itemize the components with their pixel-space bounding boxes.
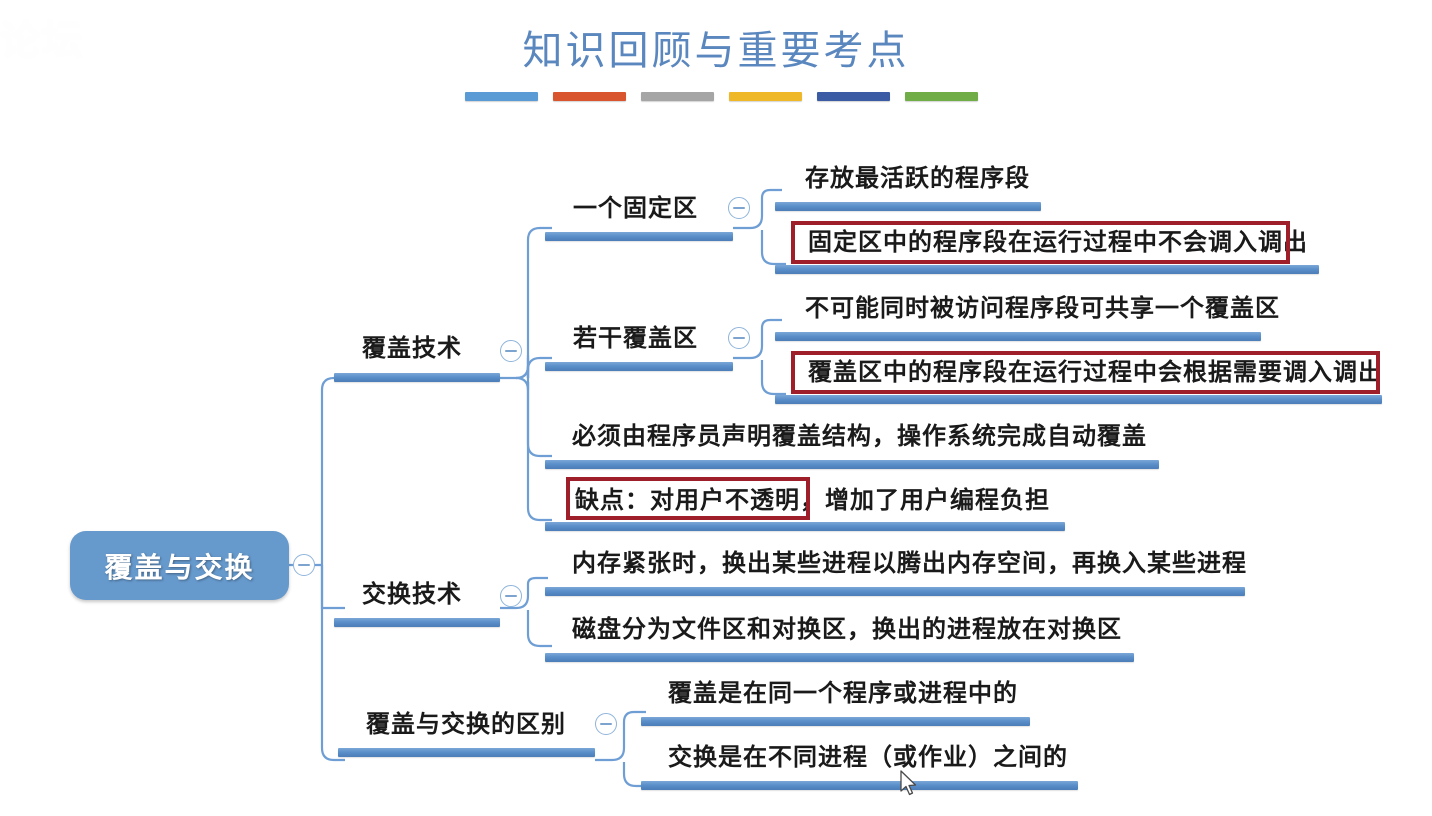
title-bar-navy [817, 92, 890, 101]
underline-swap-between-processes [641, 781, 1078, 790]
leaf-label-swap-out-in[interactable]: 内存紧张时，换出某些进程以腾出内存空间，再换入某些进程 [572, 551, 1247, 575]
leaf-label-programmer-declares[interactable]: 必须由程序员声明覆盖结构，操作系统完成自动覆盖 [572, 424, 1147, 448]
leaf-label-overlay-same-process[interactable]: 覆盖是在同一个程序或进程中的 [668, 681, 1018, 705]
minus-circle-icon-difference[interactable] [595, 713, 617, 735]
underline-difference [338, 748, 595, 757]
underline-swap-tech [334, 618, 500, 627]
underline-fixed-zone [545, 232, 733, 241]
title-color-bars [465, 92, 978, 101]
title-bar-green [905, 92, 978, 101]
slide-canvas: 论坛 bilibili 知识回顾与重要考点 [0, 0, 1432, 816]
minus-circle-icon-root[interactable] [293, 554, 315, 576]
title-bar-yellow [729, 92, 802, 101]
leaf-label-swap-between-processes[interactable]: 交换是在不同进程（或作业）之间的 [668, 745, 1068, 769]
underline-overlay-same-process [641, 717, 1030, 726]
node-label-swap-tech[interactable]: 交换技术 [362, 582, 462, 606]
underline-overlay-swap [775, 395, 1382, 404]
node-label-overlay-tech[interactable]: 覆盖技术 [362, 336, 462, 360]
underline-overlay-zone [545, 362, 733, 371]
leaf-label-active-segment[interactable]: 存放最活跃的程序段 [805, 166, 1030, 190]
leaf-label-share-zone[interactable]: 不可能同时被访问程序段可共享一个覆盖区 [805, 296, 1280, 320]
root-node[interactable]: 覆盖与交换 [70, 531, 289, 600]
node-label-fixed-zone[interactable]: 一个固定区 [573, 196, 698, 220]
minus-circle-icon-overlay-tech[interactable] [500, 340, 522, 362]
highlight-box-drawback [566, 477, 810, 520]
underline-fixed-no-swap [775, 265, 1319, 274]
minus-circle-icon-overlay-zone[interactable] [728, 327, 750, 349]
mouse-pointer-icon [899, 770, 919, 798]
node-label-difference[interactable]: 覆盖与交换的区别 [366, 712, 566, 736]
leaf-label-disk-areas[interactable]: 磁盘分为文件区和对换区，换出的进程放在对换区 [572, 617, 1122, 641]
root-node-label: 覆盖与交换 [70, 531, 289, 600]
highlight-box-overlay-swap [791, 351, 1380, 394]
page-title: 知识回顾与重要考点 [0, 18, 1432, 76]
title-bar-gray [641, 92, 714, 101]
minus-circle-icon-fixed-zone[interactable] [728, 197, 750, 219]
title-bar-orange [553, 92, 626, 101]
underline-drawback [545, 522, 1065, 531]
title-bar-blue [465, 92, 538, 101]
underline-share-zone [775, 332, 1261, 341]
underline-overlay-tech [334, 373, 500, 382]
minus-circle-icon-swap-tech[interactable] [500, 585, 522, 607]
underline-disk-areas [545, 653, 1134, 662]
underline-active-segment [775, 202, 1041, 211]
underline-swap-out-in [545, 587, 1245, 596]
highlight-box-fixed-no-swap [791, 221, 1290, 264]
underline-programmer-declares [545, 460, 1159, 469]
node-label-overlay-zone[interactable]: 若干覆盖区 [573, 326, 698, 350]
